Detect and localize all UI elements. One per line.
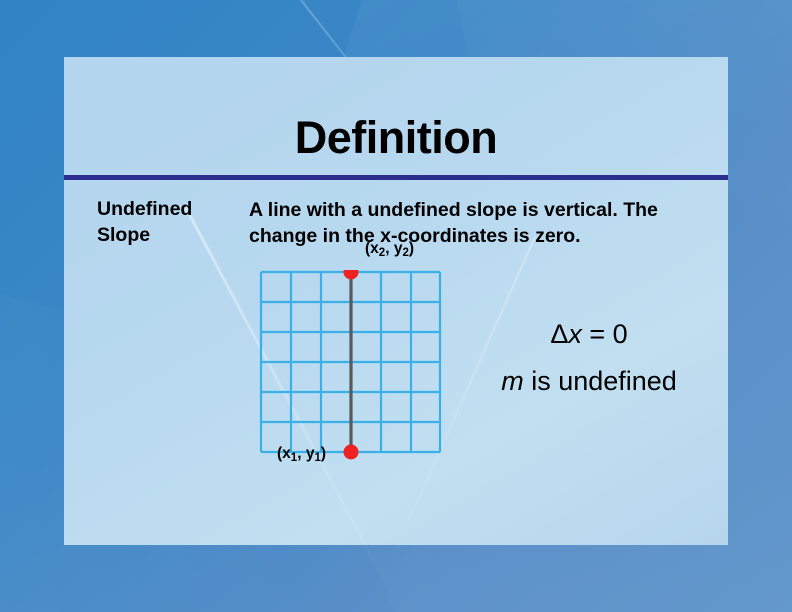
definition-card: Definition Undefined Slope A line with a… — [64, 57, 728, 545]
point-label-top: (x2, y2) — [365, 240, 414, 258]
delta-variable: x — [568, 319, 582, 349]
title-divider — [64, 175, 728, 180]
page-title: Definition — [64, 115, 728, 160]
equation-slope-undefined: m is undefined — [464, 367, 714, 397]
math-annotations: Δx = 0 m is undefined — [464, 320, 714, 396]
coordinate-grid-figure: (x2, y2) (x1, y1) — [259, 240, 449, 470]
point-top-x-var: x — [370, 240, 379, 257]
grid-svg — [259, 270, 449, 460]
endpoint-top-point — [344, 270, 359, 280]
equation-delta-x: Δx = 0 — [464, 320, 714, 350]
slope-undefined-text: is undefined — [524, 366, 677, 396]
point-bottom-x-subscript: 1 — [291, 452, 297, 464]
point-top-x-subscript: 2 — [379, 247, 385, 259]
point-top-y-subscript: 2 — [402, 247, 408, 259]
delta-symbol: Δ — [550, 319, 568, 349]
slope-variable: m — [501, 366, 524, 396]
endpoint-bottom-point — [344, 445, 359, 460]
delta-equals-zero: = 0 — [582, 319, 628, 349]
slide-canvas: Definition Undefined Slope A line with a… — [0, 0, 792, 612]
term-label: Undefined Slope — [97, 197, 247, 248]
point-label-bottom: (x1, y1) — [277, 445, 326, 463]
point-bottom-x-var: x — [282, 445, 291, 462]
point-bottom-y-subscript: 1 — [314, 452, 320, 464]
